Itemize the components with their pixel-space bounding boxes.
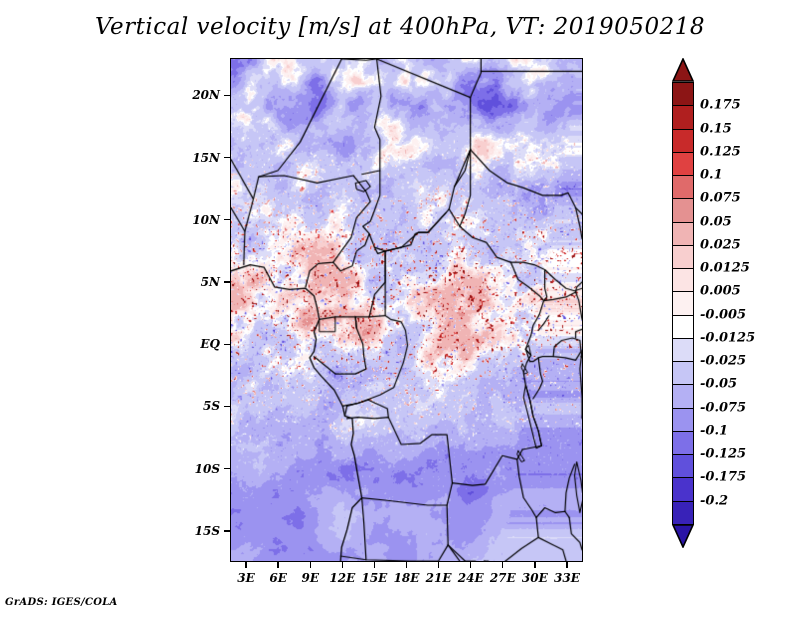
colorbar-band: [672, 175, 694, 200]
colorbar-tick-label: 0.0125: [700, 261, 750, 276]
colorbar-band: [672, 338, 694, 363]
vertical-velocity-heatmap: [231, 59, 582, 561]
y-axis-tick: [224, 219, 230, 220]
colorbar-band: [672, 129, 694, 154]
colorbar-tick-label: 0.175: [700, 98, 741, 113]
x-axis-tick: [245, 562, 246, 568]
x-axis-tick: [502, 562, 503, 568]
colorbar-band: [672, 82, 694, 107]
colorbar-band: [672, 291, 694, 316]
colorbar-band: [672, 408, 694, 433]
y-axis-tick: [224, 468, 230, 469]
x-axis-tick: [438, 562, 439, 568]
colorbar-band: [672, 222, 694, 247]
colorbar-tick-label: -0.075: [700, 400, 746, 415]
y-axis-label: 5S: [178, 399, 220, 413]
colorbar-tick-label: -0.025: [700, 354, 746, 369]
colorbar-band: [672, 198, 694, 223]
x-axis-tick: [566, 562, 567, 568]
x-axis-tick: [277, 562, 278, 568]
y-axis-label: 15N: [178, 151, 220, 165]
x-axis-tick: [310, 562, 311, 568]
x-axis-tick: [374, 562, 375, 568]
x-axis-tick: [342, 562, 343, 568]
colorbar-tick-label: 0.025: [700, 237, 741, 252]
colorbar-tick-label: -0.175: [700, 470, 746, 485]
x-axis-tick: [470, 562, 471, 568]
colorbar-band: [672, 431, 694, 456]
y-axis-label: 15S: [178, 524, 220, 538]
colorbar-tick-label: -0.005: [700, 307, 746, 322]
colorbar-tick-label: -0.0125: [700, 330, 755, 345]
colorbar-tick-label: -0.125: [700, 447, 746, 462]
x-axis-label: 18E: [394, 571, 420, 585]
colorbar-tick-label: 0.1: [700, 168, 723, 183]
y-axis-tick: [224, 344, 230, 345]
y-axis-tick: [224, 530, 230, 531]
x-axis-label: 15E: [361, 571, 387, 585]
x-axis-label: 27E: [490, 571, 516, 585]
y-axis-label: EQ: [178, 337, 220, 351]
colorbar-band: [672, 315, 694, 340]
y-axis-label: 10N: [178, 213, 220, 227]
colorbar: 0.1750.150.1250.10.0750.050.0250.01250.0…: [672, 58, 694, 548]
y-axis-label: 20N: [178, 88, 220, 102]
colorbar-tick-label: -0.05: [700, 377, 737, 392]
map-plot-area: [230, 58, 583, 562]
colorbar-band: [672, 454, 694, 479]
y-axis-tick: [224, 157, 230, 158]
x-axis-label: 12E: [329, 571, 355, 585]
x-axis-label: 30E: [522, 571, 548, 585]
colorbar-band: [672, 105, 694, 130]
colorbar-band: [672, 384, 694, 409]
x-axis-label: 33E: [554, 571, 580, 585]
colorbar-arrow-top: [672, 58, 694, 82]
page-title: Vertical velocity [m/s] at 400hPa, VT: 2…: [0, 14, 800, 40]
x-axis-label: 3E: [237, 571, 255, 585]
x-axis-label: 6E: [269, 571, 287, 585]
y-axis-tick: [224, 406, 230, 407]
colorbar-band: [672, 501, 694, 526]
colorbar-band: [672, 361, 694, 386]
x-axis-label: 21E: [426, 571, 452, 585]
colorbar-tick-label: 0.05: [700, 214, 732, 229]
y-axis-label: 10S: [178, 462, 220, 476]
colorbar-tick-label: 0.15: [700, 121, 732, 136]
colorbar-band: [672, 477, 694, 502]
colorbar-tick-label: -0.1: [700, 423, 728, 438]
y-axis-tick: [224, 281, 230, 282]
x-axis-label: 24E: [458, 571, 484, 585]
colorbar-tick-label: 0.125: [700, 144, 741, 159]
x-axis-tick: [406, 562, 407, 568]
y-axis-label: 5N: [178, 275, 220, 289]
colorbar-tick-label: 0.005: [700, 284, 741, 299]
colorbar-arrow-bottom: [672, 524, 694, 548]
colorbar-tick-label: -0.2: [700, 493, 728, 508]
colorbar-tick-label: 0.075: [700, 191, 741, 206]
colorbar-band: [672, 152, 694, 177]
colorbar-band: [672, 268, 694, 293]
credit-label: GrADS: IGES/COLA: [5, 597, 118, 608]
colorbar-band: [672, 245, 694, 270]
x-axis-label: 9E: [301, 571, 319, 585]
x-axis-tick: [534, 562, 535, 568]
y-axis-tick: [224, 95, 230, 96]
